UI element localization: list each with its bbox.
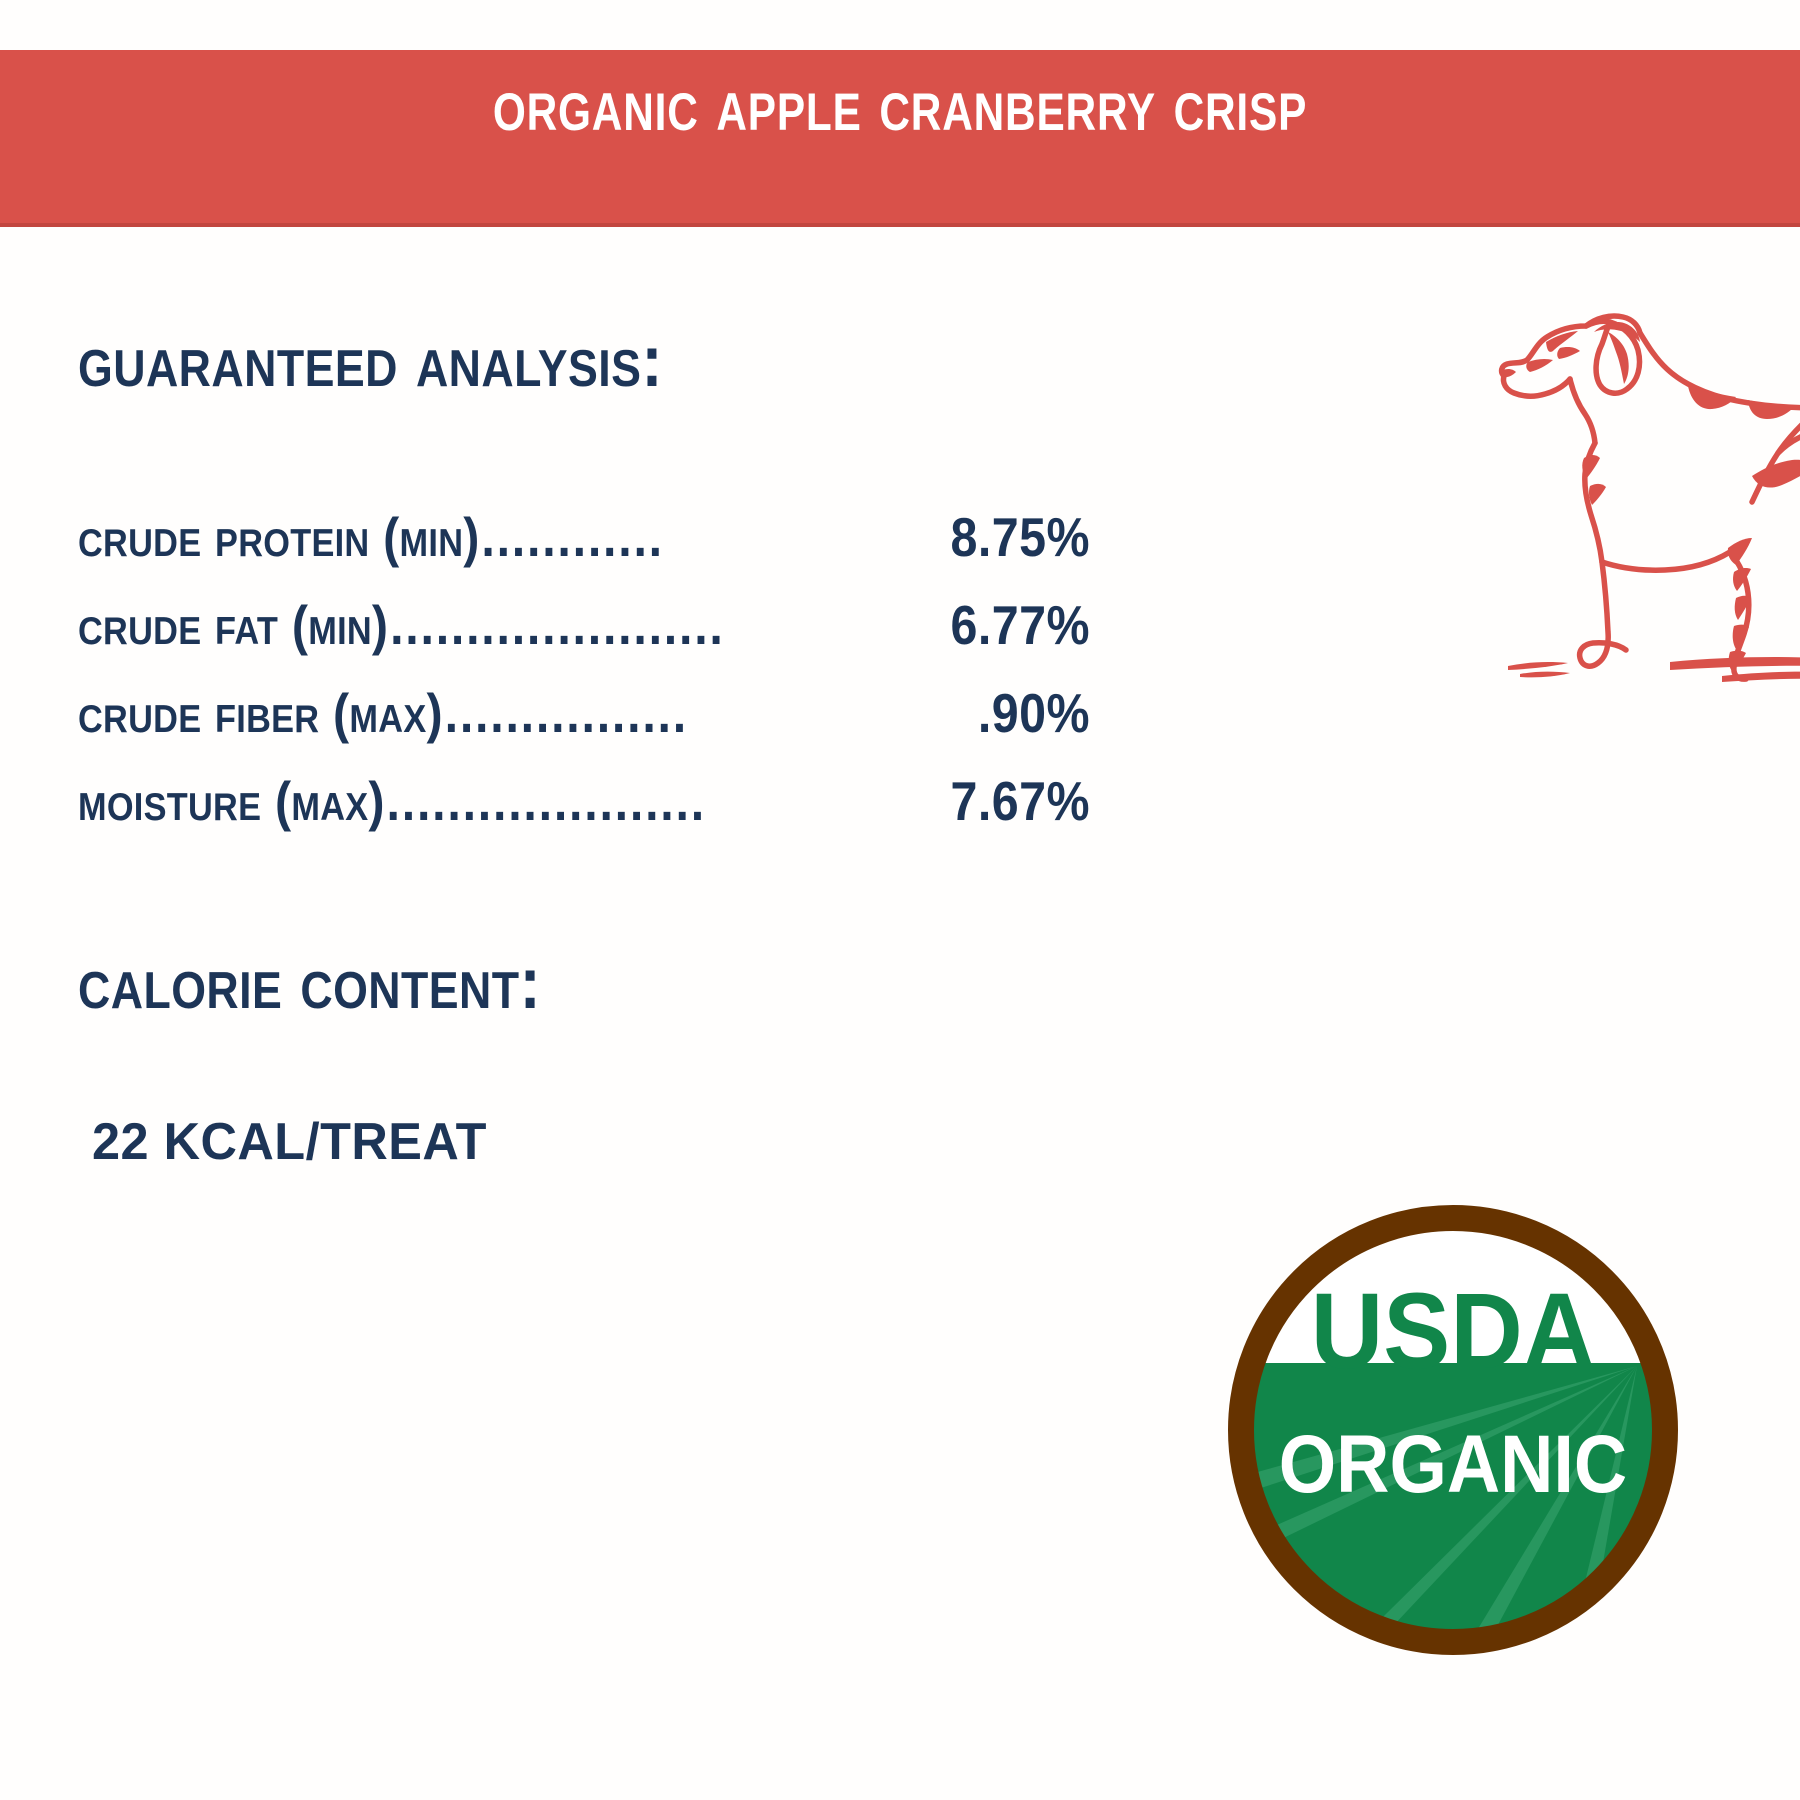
analysis-value: 6.77% bbox=[910, 593, 1090, 657]
usda-seal-bottom-text: ORGANIC bbox=[1279, 1417, 1627, 1510]
dog-illustration bbox=[1490, 280, 1800, 700]
calorie-content-heading: Calorie Content: bbox=[78, 940, 541, 1025]
analysis-value: .90% bbox=[910, 681, 1090, 745]
guaranteed-analysis-list: Crude Protein (min) ............ 8.75% C… bbox=[78, 505, 1098, 857]
analysis-row: Crude Protein (min) ............ 8.75% bbox=[78, 505, 1098, 593]
analysis-label: Crude Fiber (max) bbox=[78, 681, 443, 745]
guaranteed-analysis-heading: Guaranteed Analysis: bbox=[78, 318, 663, 403]
leader-dots: ............ bbox=[481, 505, 904, 569]
analysis-value: 7.67% bbox=[910, 769, 1090, 833]
usda-organic-seal: USDA ORGANIC bbox=[1213, 1190, 1693, 1670]
analysis-row: Moisture (max) ..................... 7.6… bbox=[78, 769, 1098, 857]
analysis-row: Crude Fiber (max) ................ .90% bbox=[78, 681, 1098, 769]
leader-dots: ................ bbox=[445, 681, 905, 745]
product-nutrition-panel: Organic Apple Cranberry Crisp Guaranteed… bbox=[0, 0, 1800, 1800]
leader-dots: ...................... bbox=[390, 593, 904, 657]
header-banner: Organic Apple Cranberry Crisp bbox=[0, 50, 1800, 227]
page-title: Organic Apple Cranberry Crisp bbox=[180, 64, 1620, 146]
analysis-row: Crude Fat (min) ...................... 6… bbox=[78, 593, 1098, 681]
leader-dots: ..................... bbox=[387, 769, 905, 833]
analysis-label: Moisture (max) bbox=[78, 769, 385, 833]
analysis-value: 8.75% bbox=[910, 505, 1090, 569]
analysis-label: Crude Protein (min) bbox=[78, 505, 480, 569]
calorie-content-value: 22 KCAL/TREAT bbox=[92, 1112, 487, 1172]
analysis-label: Crude Fat (min) bbox=[78, 593, 388, 657]
usda-seal-top-text: USDA bbox=[1311, 1272, 1596, 1392]
